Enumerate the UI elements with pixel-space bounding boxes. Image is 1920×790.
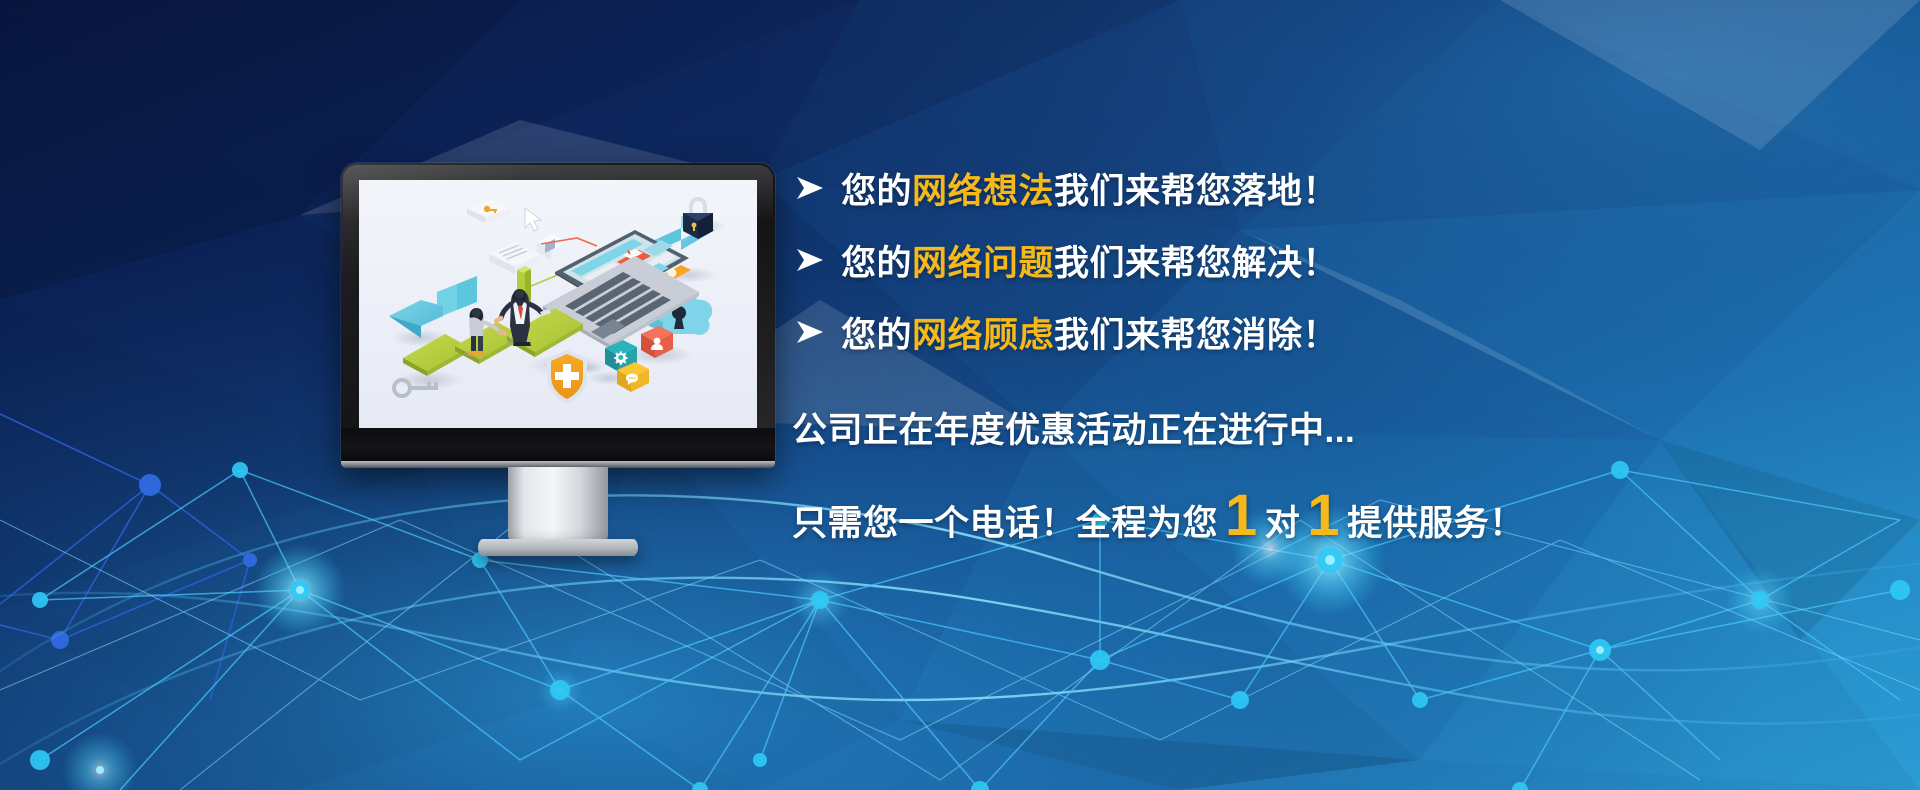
monitor-screen (359, 180, 757, 428)
bullet-2-suffix: 我们来帮您解决！ (1054, 244, 1338, 283)
bullet-3-suffix: 我们来帮您消除！ (1054, 316, 1338, 355)
apple-display-monitor (341, 163, 775, 478)
bullet-text-3: 您的网络顾虑我们来帮您消除！ (841, 307, 1338, 358)
bullet-1-highlight: 网络想法 (912, 172, 1054, 211)
bullet-2-prefix: 您的 (841, 244, 912, 283)
arrow-right-bullet-icon (795, 320, 841, 344)
bullet-item-2: 您的网络问题我们来帮您解决！ (795, 224, 1855, 296)
promo-number-one-second: 1 (1300, 493, 1347, 539)
hero-banner: 您的网络想法我们来帮您落地！ 您的网络问题我们来帮您解决！ 您的网络顾虑我们来帮… (0, 0, 1920, 790)
bullet-3-prefix: 您的 (841, 316, 912, 355)
arrow-right-bullet-icon (795, 176, 841, 200)
bullet-2-highlight: 网络问题 (912, 244, 1054, 283)
promo-line-2-part2: 提供服务！ (1347, 495, 1525, 546)
monitor-stand-base (478, 539, 638, 556)
bullet-1-suffix: 我们来帮您落地！ (1054, 172, 1338, 211)
bullet-3-highlight: 网络顾虑 (912, 316, 1054, 355)
arrow-right-bullet-icon (795, 248, 841, 272)
apple-logo-icon (549, 437, 567, 457)
bullet-1-prefix: 您的 (841, 172, 912, 211)
promo-number-one-first: 1 (1218, 493, 1265, 539)
isometric-network-security-illustration (359, 180, 757, 428)
promo-line-2-mid: 对 (1265, 495, 1301, 546)
bullet-item-3: 您的网络顾虑我们来帮您消除！ (795, 296, 1855, 368)
promo-line-2: 只需您一个电话！全程为您 1 对 1 提供服务！ (792, 493, 1855, 546)
promo-line-1: 公司正在年度优惠活动正在进行中... (792, 402, 1855, 453)
bullet-text-1: 您的网络想法我们来帮您落地！ (841, 163, 1338, 214)
promo-line-2-part1: 只需您一个电话！全程为您 (792, 495, 1218, 546)
banner-copy: 您的网络想法我们来帮您落地！ 您的网络问题我们来帮您解决！ 您的网络顾虑我们来帮… (795, 152, 1855, 546)
monitor-stand-neck (508, 467, 608, 545)
bullet-item-1: 您的网络想法我们来帮您落地！ (795, 152, 1855, 224)
bullet-text-2: 您的网络问题我们来帮您解决！ (841, 235, 1338, 286)
